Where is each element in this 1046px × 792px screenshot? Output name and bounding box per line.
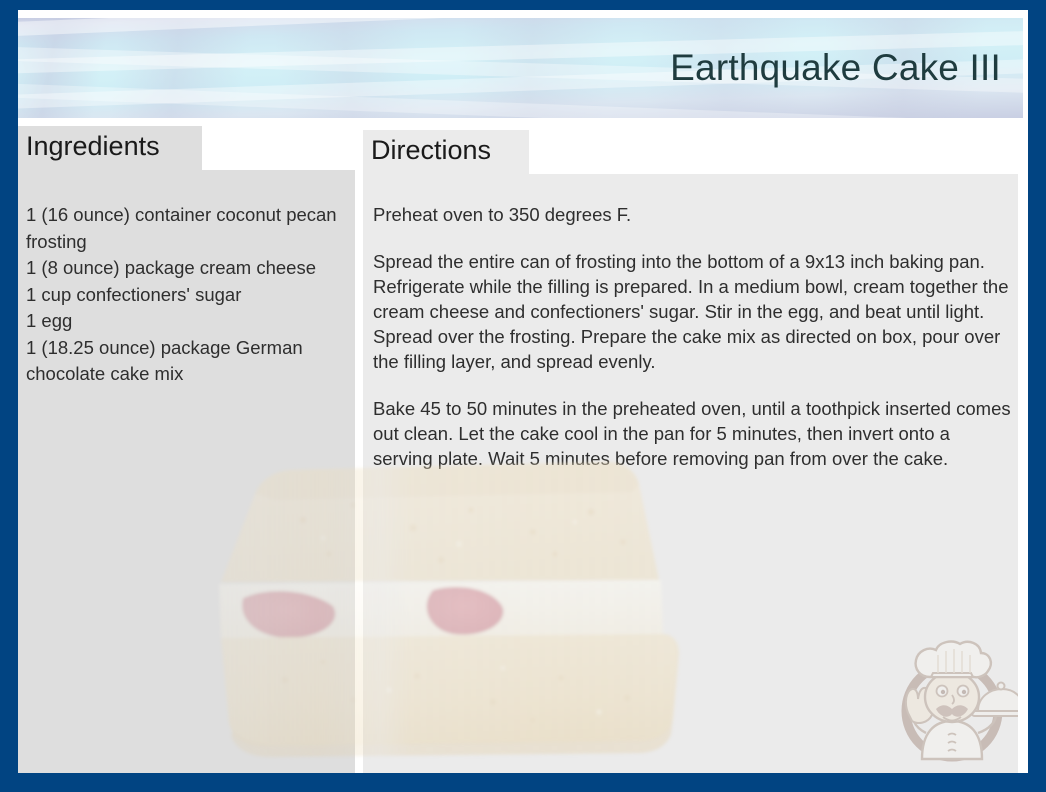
directions-paragraph: Bake 45 to 50 minutes in the preheated o… — [373, 396, 1011, 471]
list-item: 1 cup confectioners' sugar — [26, 282, 348, 309]
ingredients-heading: Ingredients — [18, 126, 202, 170]
list-item: 1 (8 ounce) package cream cheese — [26, 255, 348, 282]
list-item: 1 (16 ounce) container coconut pecan fro… — [26, 202, 348, 255]
directions-heading: Directions — [363, 130, 529, 174]
directions-paragraph: Preheat oven to 350 degrees F. — [373, 202, 1011, 227]
ingredients-panel: 1 (16 ounce) container coconut pecan fro… — [18, 170, 355, 773]
ingredients-list: 1 (16 ounce) container coconut pecan fro… — [26, 202, 348, 388]
recipe-card-inner: Earthquake Cake III Ingredients 1 (16 ou… — [18, 10, 1028, 773]
recipe-card: Earthquake Cake III Ingredients 1 (16 ou… — [0, 0, 1046, 792]
list-item: 1 (18.25 ounce) package German chocolate… — [26, 335, 348, 388]
page-title: Earthquake Cake III — [670, 47, 1001, 89]
chef-logo-icon — [886, 633, 1018, 765]
directions-paragraph: Spread the entire can of frosting into t… — [373, 249, 1011, 374]
list-item: 1 egg — [26, 308, 348, 335]
header-banner: Earthquake Cake III — [18, 18, 1023, 118]
chef-hat-icon — [916, 642, 991, 678]
directions-text: Preheat oven to 350 degrees F. Spread th… — [373, 202, 1011, 493]
